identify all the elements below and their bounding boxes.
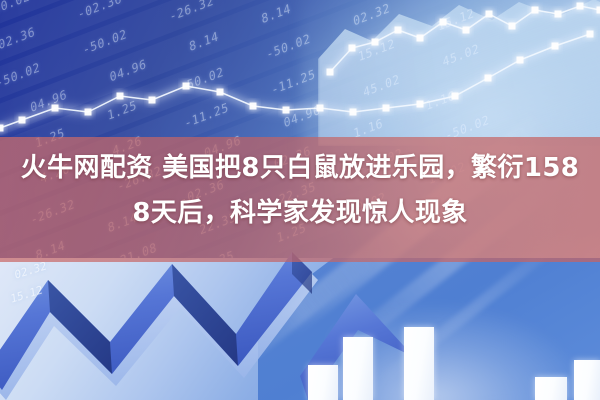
chart-node-marker <box>0 125 4 132</box>
chart-node-marker <box>485 75 492 82</box>
chart-node-marker <box>440 19 447 26</box>
chart-node-marker <box>509 23 516 30</box>
chart-node-marker <box>463 27 470 34</box>
chart-series-lower <box>0 31 594 132</box>
headline-text: 火牛网配资 美国把8只白鼠放进乐园，繁衍158 8天后，科学家发现惊人现象 <box>0 146 600 236</box>
chart-node-marker <box>417 101 424 108</box>
bar-chart-bar <box>343 337 373 400</box>
chart-node-marker <box>372 39 379 46</box>
chart-node-marker <box>517 57 524 64</box>
chart-node-marker <box>149 97 156 104</box>
bar-chart-bar <box>404 327 434 400</box>
chart-node-marker <box>52 105 59 112</box>
chart-node-marker <box>250 103 257 110</box>
chart-node-marker <box>417 35 424 42</box>
chart-node-marker <box>587 31 594 38</box>
chart-node-marker <box>486 11 493 18</box>
chart-node-marker <box>317 105 324 112</box>
chart-node-marker <box>597 7 600 14</box>
chart-node-marker <box>395 27 402 34</box>
chart-node-marker <box>217 89 224 96</box>
chart-node-marker <box>117 93 124 100</box>
bar-chart-bar <box>535 377 567 400</box>
chart-node-marker <box>577 3 584 10</box>
chart-node-marker <box>183 83 190 90</box>
chart-node-marker <box>532 7 539 14</box>
chart-node-marker <box>555 11 562 18</box>
headline-line-2: 8天后，科学家发现惊人现象 <box>10 191 590 236</box>
chart-node-marker <box>327 69 334 76</box>
bar-chart-bar <box>574 360 600 400</box>
chart-node-marker <box>349 45 356 52</box>
chart-series-upper <box>327 3 600 76</box>
chart-node-marker <box>19 117 26 124</box>
chart-node-marker <box>85 109 92 116</box>
chart-node-marker <box>383 105 390 112</box>
chart-node-marker <box>552 43 559 50</box>
chart-node-marker <box>283 107 290 114</box>
chart-node-marker <box>350 109 357 116</box>
bar-chart-bar <box>308 365 338 400</box>
news-banner-image: -50.02-50.02-02.36-02.3645.0245.0221.082… <box>0 0 600 400</box>
chart-node-marker <box>452 93 459 100</box>
headline-line-1: 火牛网配资 美国把8只白鼠放进乐园，繁衍158 <box>10 146 590 191</box>
